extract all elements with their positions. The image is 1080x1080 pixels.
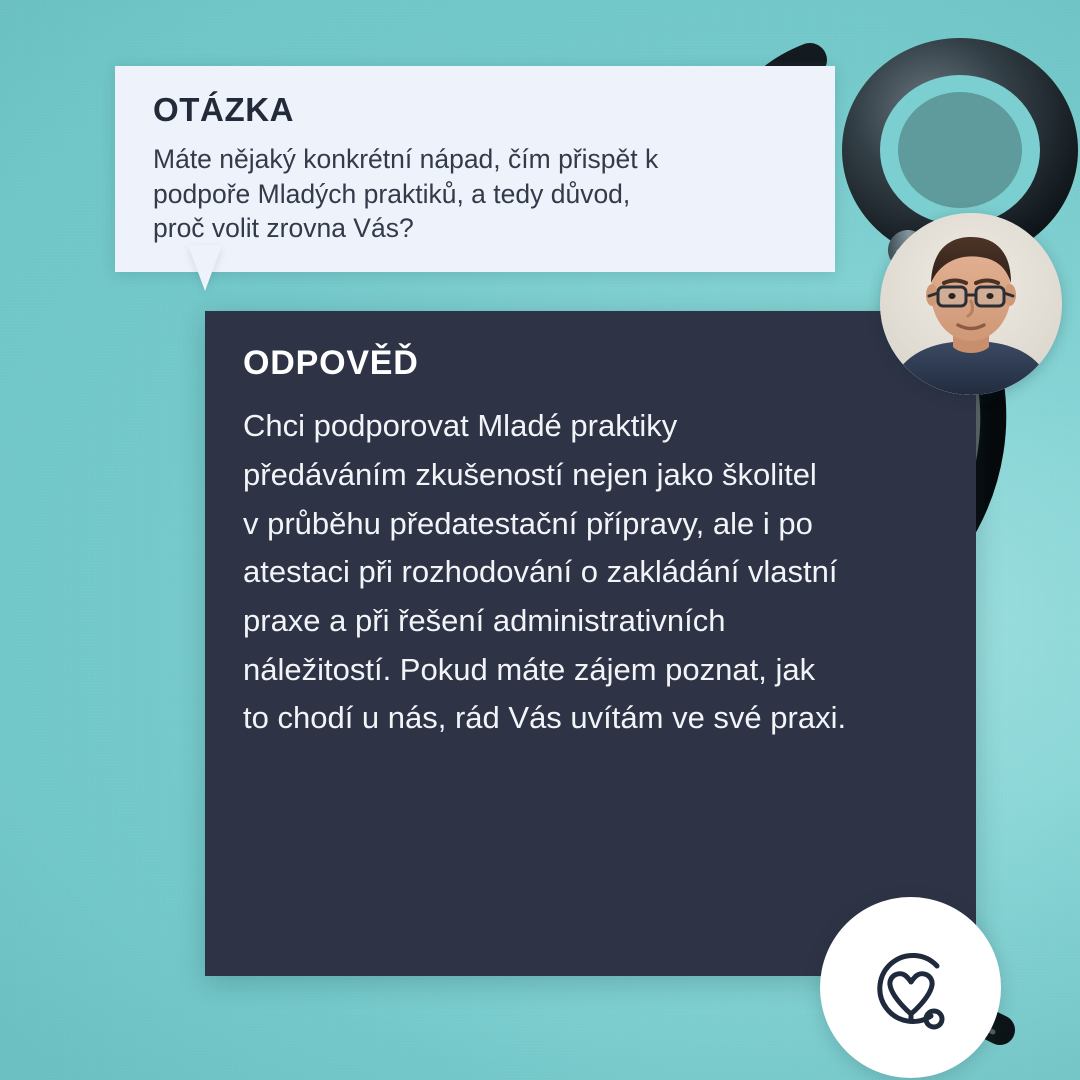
answer-line: předáváním zkušeností nejen jako školite… [243, 451, 936, 500]
question-line: podpoře Mladých praktiků, a tedy důvod, [153, 177, 801, 211]
question-bubble-tail [188, 245, 222, 291]
answer-line: v průběhu předatestační přípravy, ale i … [243, 500, 936, 549]
logo-badge [820, 897, 1001, 1078]
question-title: OTÁZKA [153, 92, 801, 128]
question-text: Máte nějaký konkrétní nápad, čím přispět… [153, 142, 801, 245]
question-line: Máte nějaký konkrétní nápad, čím přispět… [153, 142, 801, 176]
answer-line: náležitostí. Pokud máte zájem poznat, ja… [243, 646, 936, 695]
avatar [880, 213, 1062, 395]
social-card: OTÁZKA Máte nějaký konkrétní nápad, čím … [0, 0, 1080, 1080]
answer-line: Chci podporovat Mladé praktiky [243, 402, 936, 451]
question-bubble: OTÁZKA Máte nějaký konkrétní nápad, čím … [115, 66, 835, 272]
answer-card: ODPOVĚĎ Chci podporovat Mladé praktiky p… [205, 311, 976, 976]
answer-title: ODPOVĚĎ [243, 345, 936, 382]
answer-line: praxe a při řešení administrativních [243, 597, 936, 646]
answer-line: atestaci při rozhodování o zakládání vla… [243, 548, 936, 597]
answer-text: Chci podporovat Mladé praktiky předávání… [243, 402, 936, 743]
question-line: proč volit zrovna Vás? [153, 211, 801, 245]
answer-line: to chodí u nás, rád Vás uvítám ve své pr… [243, 694, 936, 743]
stethoscope-heart-icon [859, 936, 963, 1040]
